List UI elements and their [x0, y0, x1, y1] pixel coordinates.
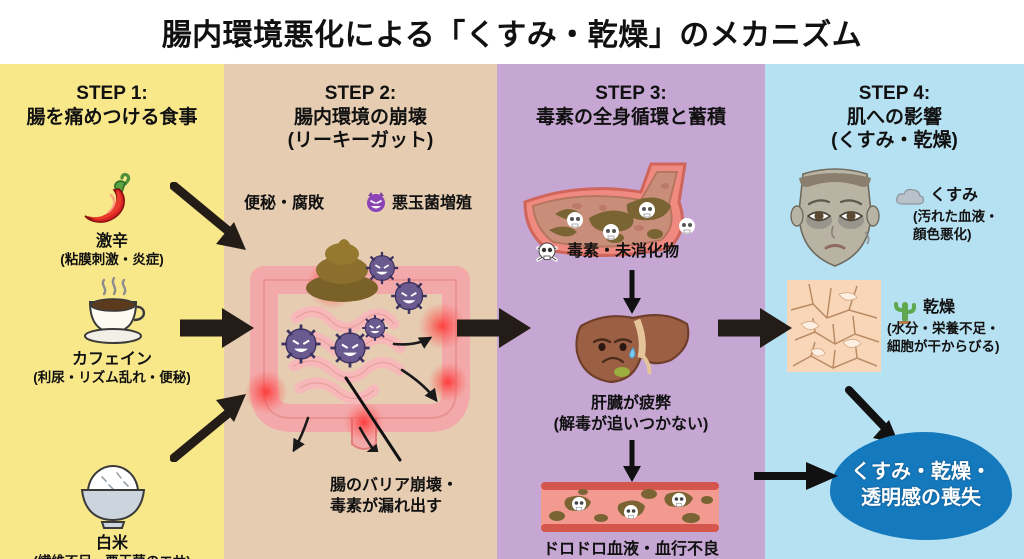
- dull-face-illustration: [781, 168, 889, 268]
- arrow-step1-to-step2-lower: [170, 390, 266, 462]
- skull-crossbones-icon: [534, 240, 560, 266]
- annotation-sticky-blood: ドロドロ血液・血行不良: [497, 540, 765, 559]
- food-item-2-label: カフェイン (利尿・リズム乱れ・便秘): [0, 350, 224, 386]
- step-4-number: STEP 4:: [765, 82, 1024, 106]
- rice-bowl-icon: [72, 460, 154, 532]
- step-2-heading: STEP 2: 腸内環境の崩壊 (リーキーガット): [224, 82, 497, 153]
- food-item-2-name: カフェイン: [0, 350, 224, 370]
- annotation-barrier-breakdown: 腸のバリア崩壊・ 毒素が漏れ出す: [330, 476, 458, 518]
- step-2-subtitle: (リーキーガット): [224, 129, 497, 153]
- title-bar: 腸内環境悪化による「くすみ・乾燥」のメカニズム: [0, 0, 1024, 64]
- cloud-icon: [895, 186, 925, 208]
- devil-face-icon: [364, 190, 388, 214]
- annotation-barrier-line-2: 毒素が漏れ出す: [330, 497, 458, 518]
- step-3-heading: STEP 3: 毒素の全身循環と蓄積: [497, 82, 765, 129]
- step-2-title: 腸内環境の崩壊: [224, 106, 497, 130]
- skin-symptom-2-detail: (水分・栄養不足・ 細胞が干からびる): [887, 320, 1000, 355]
- annotation-liver-line-1: 肝臓が疲弊: [497, 394, 765, 415]
- annotation-bad-bacteria: 悪玉菌増殖: [392, 194, 472, 214]
- skin-symptom-2: 乾燥: [923, 298, 955, 318]
- annotation-liver-line-2: (解毒が追いつかない): [497, 415, 765, 436]
- chili-pepper-icon: [78, 172, 148, 230]
- barrier-pointer-line: [342, 376, 412, 476]
- arrow-step2-to-step3: [455, 306, 533, 350]
- arrow-step3-to-conclusion: [752, 458, 840, 494]
- annotation-liver-fatigue: 肝臓が疲弊 (解毒が追いつかない): [497, 394, 765, 436]
- food-item-2-detail: (利尿・リズム乱れ・便秘): [0, 370, 224, 386]
- conclusion-badge: くすみ・乾燥・ 透明感の喪失: [830, 432, 1012, 540]
- step-3-number: STEP 3:: [497, 82, 765, 106]
- annotation-sticky-blood-text: ドロドロ血液・血行不良: [497, 540, 765, 559]
- skin-symptom-1: くすみ: [930, 186, 978, 206]
- step-4-title: 肌への影響: [765, 106, 1024, 130]
- page-title: 腸内環境悪化による「くすみ・乾燥」のメカニズム: [162, 10, 863, 54]
- annotation-barrier-line-1: 腸のバリア崩壊・: [330, 476, 458, 497]
- cracked-skin-illustration: [787, 280, 881, 372]
- arrow-step1-to-step2-middle: [178, 306, 256, 350]
- food-item-3-detail: (繊維不足・悪玉菌のエサ): [0, 554, 224, 559]
- infographic-root: 腸内環境悪化による「くすみ・乾燥」のメカニズム STEP 1: 腸を痛めつける食…: [0, 0, 1024, 559]
- step-4-subtitle: (くすみ・乾燥): [765, 129, 1024, 153]
- skin-symptom-2-name: 乾燥: [923, 298, 955, 318]
- coffee-cup-icon: [76, 276, 150, 348]
- skin-symptom-2-detail-2: 細胞が干からびる): [887, 338, 1000, 356]
- step-3-title: 毒素の全身循環と蓄積: [497, 106, 765, 130]
- annotation-toxins-text: 毒素・未消化物: [567, 242, 679, 262]
- conclusion-line-2: 透明感の喪失: [851, 486, 991, 512]
- food-item-3-label: 白米 (繊維不足・悪玉菌のエサ): [0, 534, 224, 559]
- skin-symptom-1-detail-2: 顔色悪化): [913, 226, 999, 244]
- step-2-number: STEP 2:: [224, 82, 497, 106]
- step-1-number: STEP 1:: [0, 82, 224, 106]
- skin-symptom-2-detail-1: (水分・栄養不足・: [887, 320, 1000, 338]
- skin-symptom-1-name: くすみ: [930, 186, 978, 206]
- step-1-title: 腸を痛めつける食事: [0, 106, 224, 130]
- arrow-step1-to-step2-upper: [170, 182, 266, 254]
- step-4-heading: STEP 4: 肌への影響 (くすみ・乾燥): [765, 82, 1024, 153]
- skin-symptom-1-detail-1: (汚れた血液・: [913, 208, 999, 226]
- conclusion-text: くすみ・乾燥・ 透明感の喪失: [851, 460, 991, 511]
- annotation-toxins: 毒素・未消化物: [567, 242, 679, 262]
- down-arrow-1: [621, 270, 643, 314]
- skin-symptom-1-detail: (汚れた血液・ 顔色悪化): [913, 208, 999, 243]
- clogged-vessel-icon: [539, 478, 721, 536]
- down-arrow-2: [621, 440, 643, 482]
- annotation-bad-bacteria-text: 悪玉菌増殖: [392, 194, 472, 214]
- arrow-step3-to-step4: [716, 306, 794, 350]
- food-item-3-name: 白米: [0, 534, 224, 554]
- tired-liver-icon: [567, 310, 697, 394]
- conclusion-line-1: くすみ・乾燥・: [851, 460, 991, 486]
- step-1-heading: STEP 1: 腸を痛めつける食事: [0, 82, 224, 129]
